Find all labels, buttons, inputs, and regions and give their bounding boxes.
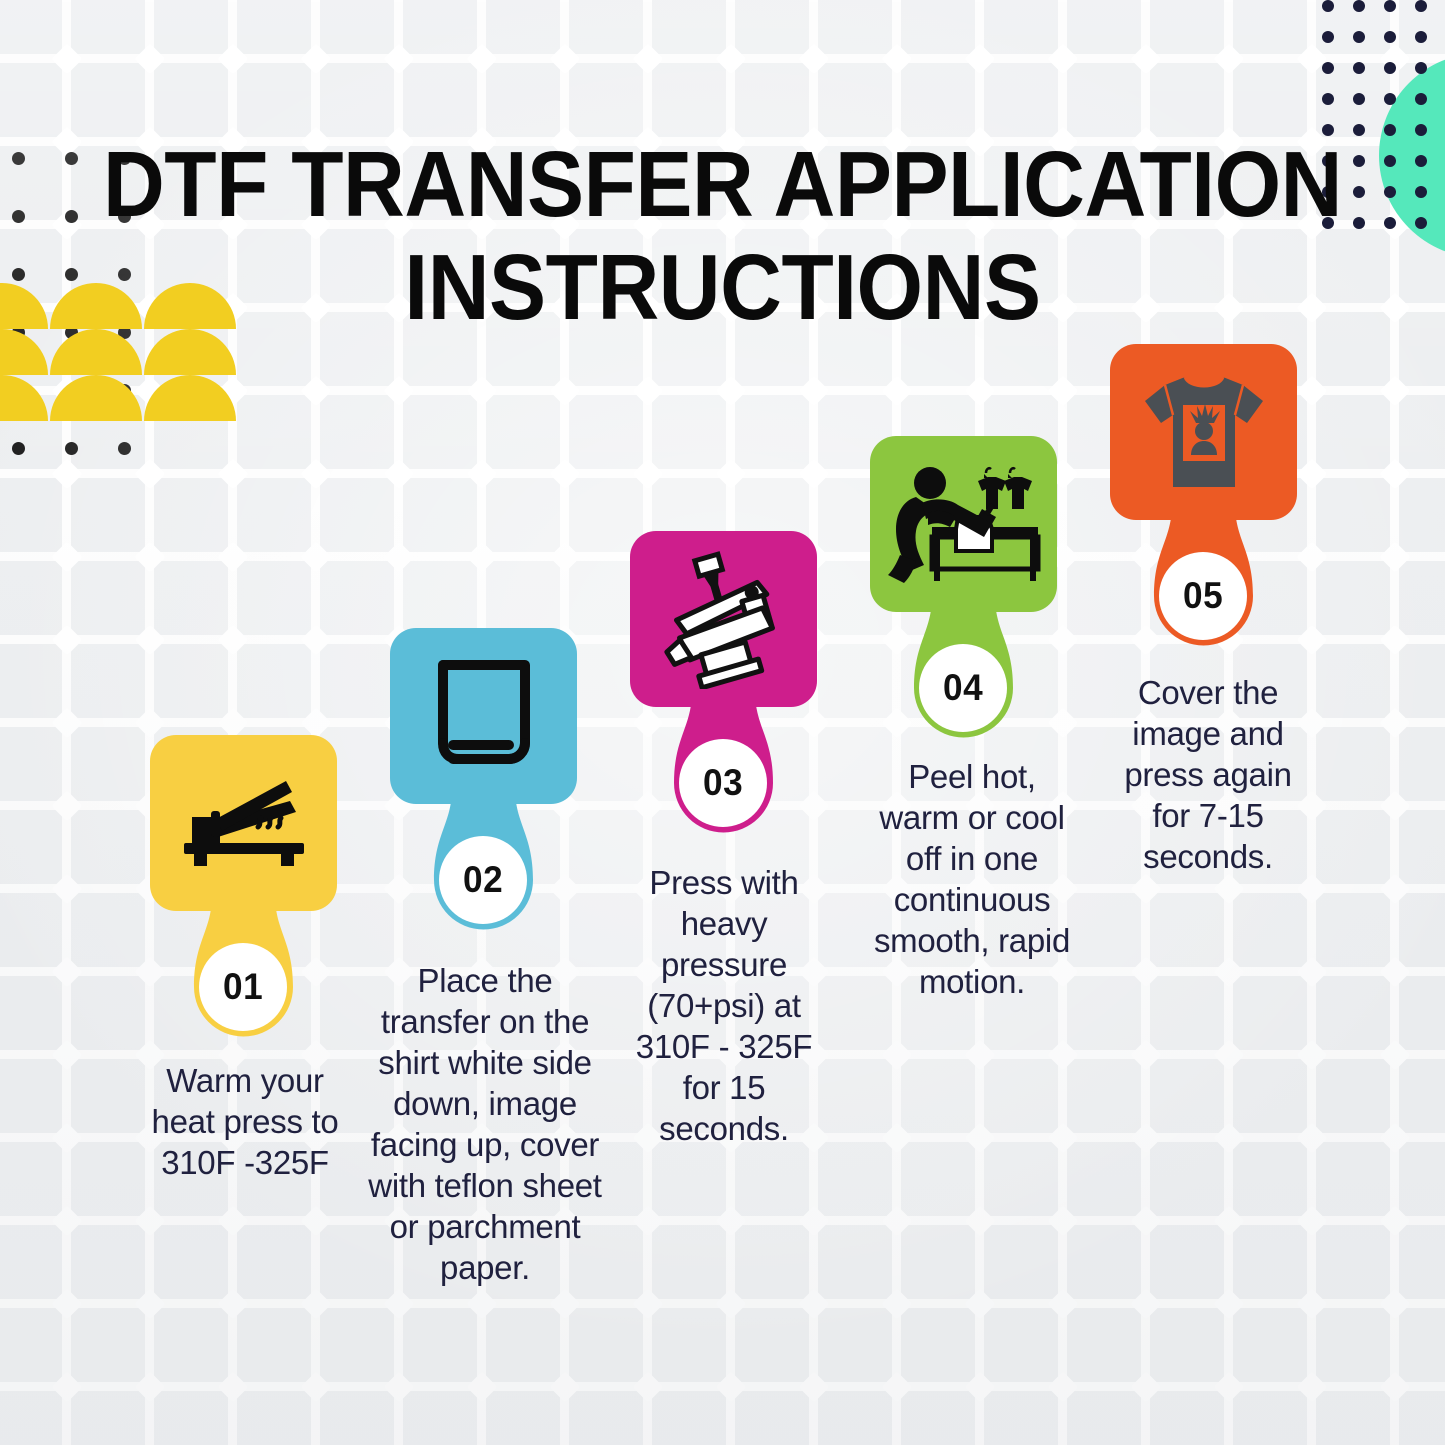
infographic-canvas: DTF TRANSFER APPLICATION INSTRUCTIONS [0,0,1445,1445]
step-02-badge: 02 [439,836,527,924]
step-03-caption: Press with heavy pressure (70+psi) at 31… [620,862,828,1149]
step-03-number: 03 [703,762,743,804]
page-title: DTF TRANSFER APPLICATION INSTRUCTIONS [0,138,1445,334]
step-02-tile[interactable] [390,628,577,804]
step-01-tile[interactable] [150,735,337,911]
page-title-line-2: INSTRUCTIONS [58,241,1387,334]
heat-press-open-icon [150,735,337,911]
step-02-number: 02 [463,859,503,901]
step-05-caption: Cover the image and press again for 7-15… [1114,672,1302,877]
step-04-number: 04 [943,667,983,709]
step-03-tile[interactable] [630,531,817,707]
step-01-caption: Warm your heat press to 310F -325F [133,1060,357,1183]
step-04-tile[interactable] [870,436,1057,612]
heat-press-machine-icon [630,531,817,707]
page-title-line-1: DTF TRANSFER APPLICATION [58,138,1387,231]
step-04-caption: Peel hot, warm or cool off in one contin… [872,756,1072,1002]
peel-transfer-person-icon [870,436,1057,612]
step-05-tile[interactable] [1110,344,1297,520]
step-02-caption: Place the transfer on the shirt white si… [367,960,603,1288]
step-04-badge: 04 [919,644,1007,732]
transfer-sheet-icon [390,628,577,804]
step-03-badge: 03 [679,739,767,827]
printed-tshirt-icon [1110,344,1297,520]
step-05-badge: 05 [1159,552,1247,640]
step-01-number: 01 [223,966,263,1008]
step-01-badge: 01 [199,943,287,1031]
step-05-number: 05 [1183,575,1223,617]
